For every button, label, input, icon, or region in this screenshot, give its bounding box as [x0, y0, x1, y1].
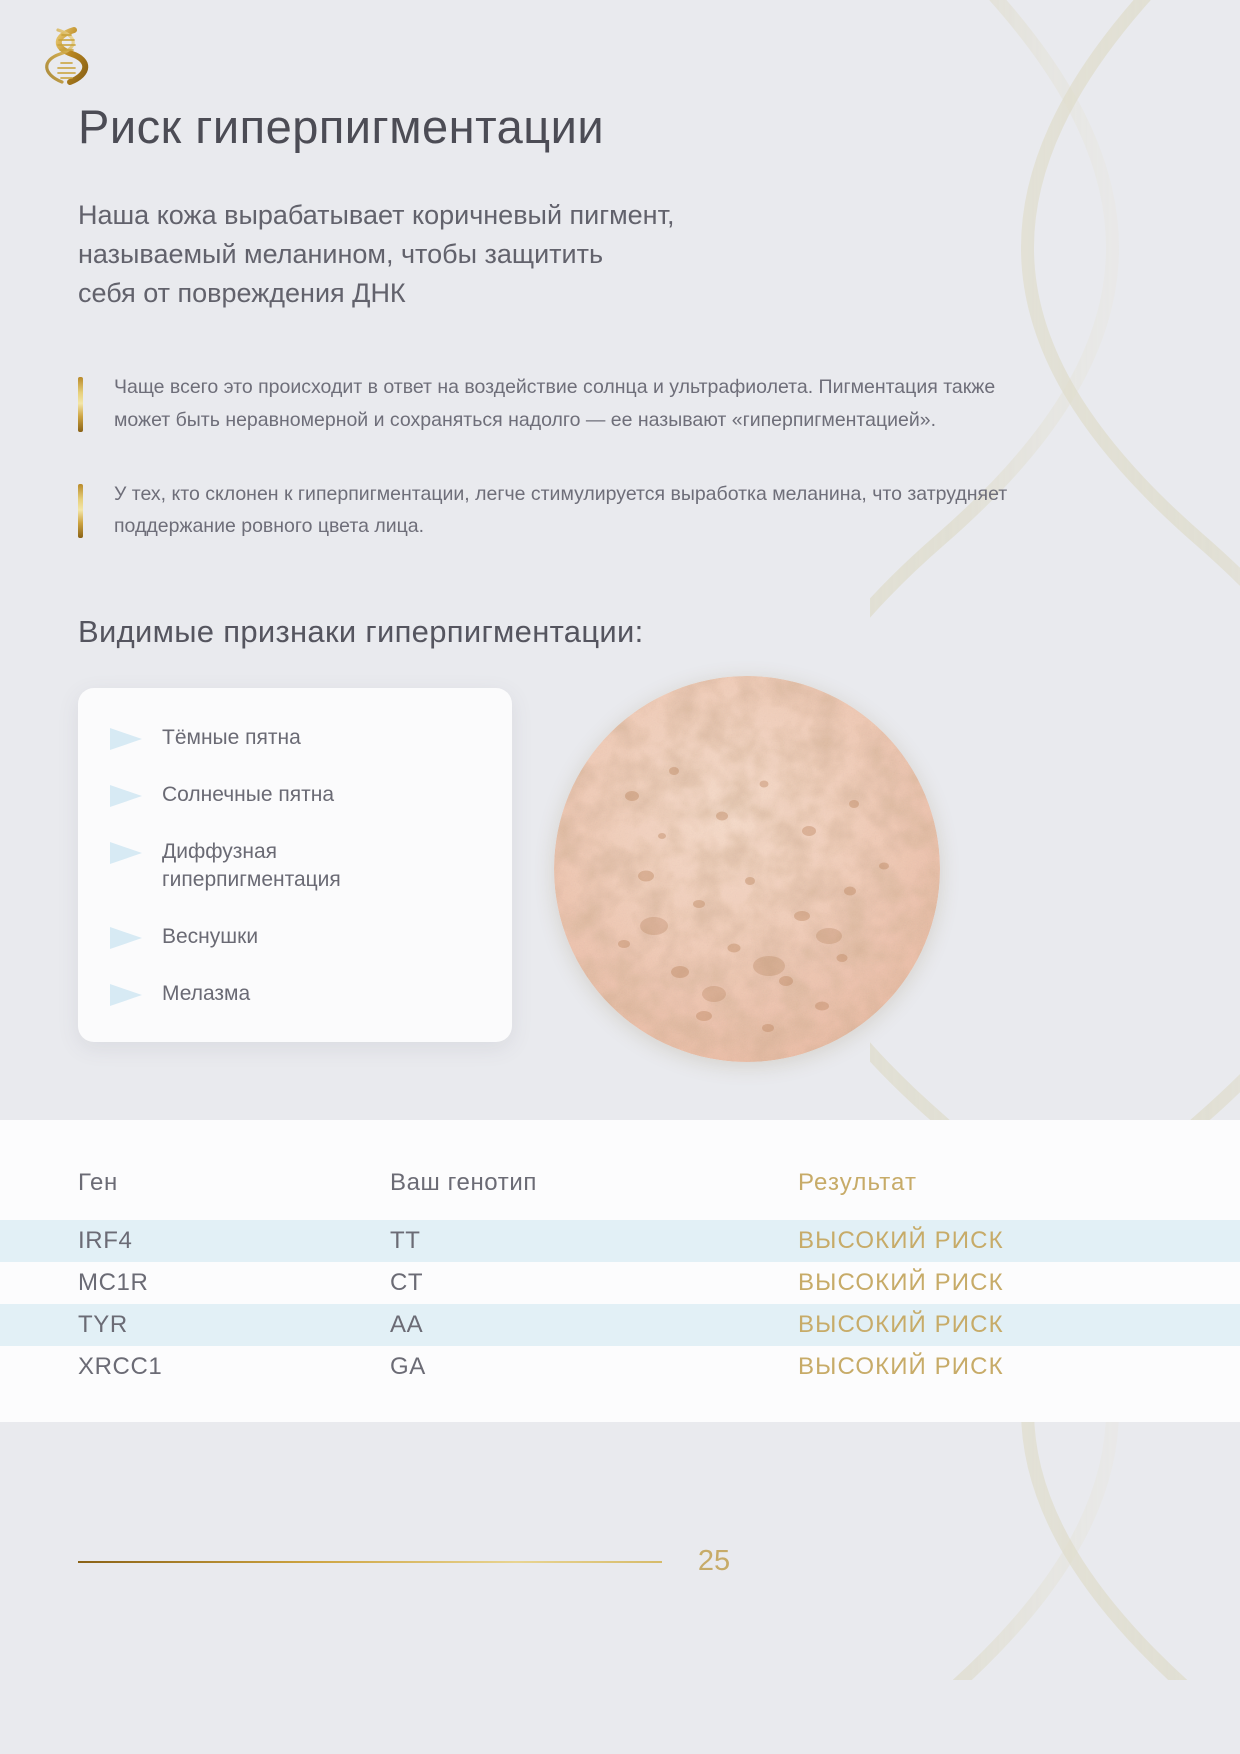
column-header-gene: Ген — [78, 1169, 390, 1197]
cell-result: ВЫСОКИЙ РИСК — [798, 1269, 1162, 1297]
cell-genotype: GA — [390, 1353, 798, 1381]
gold-accent-bar — [78, 484, 83, 538]
cell-result: ВЫСОКИЙ РИСК — [798, 1353, 1162, 1381]
signs-row: Тёмные пятна Солнечные пятна Диффузная г… — [78, 688, 1162, 1108]
list-item-label: Мелазма — [162, 980, 250, 1008]
list-item: Веснушки — [108, 923, 482, 951]
quote-list: Чаще всего это происходит в ответ на воз… — [78, 371, 1162, 542]
triangle-right-icon — [108, 982, 144, 1008]
column-header-result: Результат — [798, 1169, 1162, 1197]
column-header-genotype: Ваш генотип — [390, 1169, 798, 1197]
list-item-label: Веснушки — [162, 923, 258, 951]
page-title: Риск гиперпигментации — [78, 100, 1162, 154]
list-item-label: Тёмные пятна — [162, 724, 301, 752]
cell-gene: MC1R — [78, 1269, 390, 1297]
list-item: Мелазма — [108, 980, 482, 1008]
table-row: XRCC1 GA ВЫСОКИЙ РИСК — [0, 1346, 1240, 1388]
skin-photo-image — [554, 676, 940, 1062]
results-table: Ген Ваш генотип Результат IRF4 TT ВЫСОКИ… — [0, 1120, 1240, 1422]
page-number: 25 — [686, 1545, 742, 1578]
gold-accent-bar — [78, 377, 83, 431]
quote-block: У тех, кто склонен к гиперпигментации, л… — [78, 478, 1162, 542]
cell-gene: TYR — [78, 1311, 390, 1339]
table-header-row: Ген Ваш генотип Результат — [0, 1146, 1240, 1220]
triangle-right-icon — [108, 783, 144, 809]
cell-genotype: CT — [390, 1269, 798, 1297]
list-item-label: Диффузная гиперпигментация — [162, 838, 452, 893]
cell-result: ВЫСОКИЙ РИСК — [798, 1311, 1162, 1339]
list-item: Тёмные пятна — [108, 724, 482, 752]
quote-text: Чаще всего это происходит в ответ на воз… — [114, 371, 1034, 435]
cell-genotype: TT — [390, 1227, 798, 1255]
quote-block: Чаще всего это происходит в ответ на воз… — [78, 371, 1162, 435]
quote-text: У тех, кто склонен к гиперпигментации, л… — [114, 478, 1034, 542]
footer-divider — [78, 1561, 662, 1563]
table-row: IRF4 TT ВЫСОКИЙ РИСК — [0, 1220, 1240, 1262]
section-heading: Видимые признаки гиперпигментации: — [78, 614, 1162, 650]
list-item: Солнечные пятна — [108, 781, 482, 809]
triangle-right-icon — [108, 726, 144, 752]
table-row: TYR AA ВЫСОКИЙ РИСК — [0, 1304, 1240, 1346]
page-subtitle: Наша кожа вырабатывает коричневый пигмен… — [78, 196, 958, 313]
triangle-right-icon — [108, 925, 144, 951]
cell-genotype: AA — [390, 1311, 798, 1339]
signs-card: Тёмные пятна Солнечные пятна Диффузная г… — [78, 688, 512, 1041]
table-row: MC1R CT ВЫСОКИЙ РИСК — [0, 1262, 1240, 1304]
footer-divider-right — [742, 1561, 1162, 1563]
cell-gene: XRCC1 — [78, 1353, 390, 1381]
skin-hyperpigmentation-photo — [554, 676, 940, 1062]
list-item-label: Солнечные пятна — [162, 781, 334, 809]
list-item: Диффузная гиперпигментация — [108, 838, 482, 893]
report-page: Риск гиперпигментации Наша кожа вырабаты… — [0, 0, 1240, 1754]
dna-helix-icon — [38, 22, 94, 92]
cell-result: ВЫСОКИЙ РИСК — [798, 1227, 1162, 1255]
page-footer: 25 — [0, 1545, 1240, 1578]
triangle-right-icon — [108, 840, 144, 866]
cell-gene: IRF4 — [78, 1227, 390, 1255]
